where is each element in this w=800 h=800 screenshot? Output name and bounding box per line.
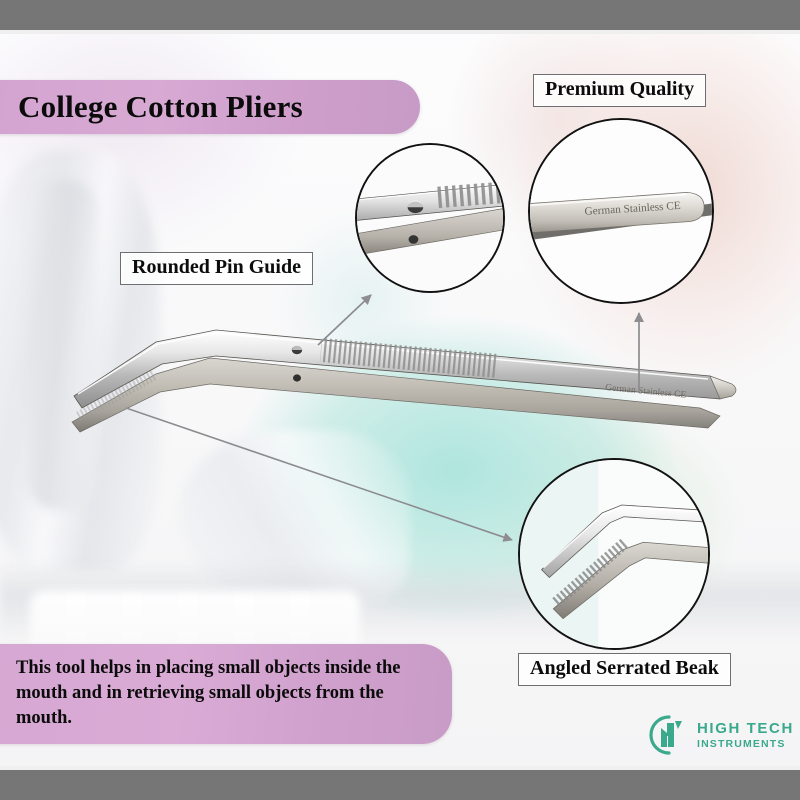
callout-beak-detail — [518, 458, 710, 650]
frame-hairline-top — [0, 30, 800, 34]
logo-wordmark: HIGH TECH INSTRUMENTS — [697, 721, 794, 750]
callout-beak-svg — [520, 460, 708, 648]
label-angled-serrated-beak: Angled Serrated Beak — [518, 653, 731, 686]
logo-mark-icon — [648, 714, 690, 756]
label-rounded-pin-guide-text: Rounded Pin Guide — [132, 256, 301, 279]
callout-engraving-svg: German Stainless CE — [530, 120, 712, 302]
description-banner: This tool helps in placing small objects… — [0, 644, 452, 744]
infographic-canvas: German Stainless CE — [0, 0, 800, 800]
background-glass-stem — [28, 180, 98, 510]
frame-band-bottom — [0, 770, 800, 800]
description-text: This tool helps in placing small objects… — [16, 656, 418, 730]
brand-logo: HIGH TECH INSTRUMENTS — [648, 714, 794, 756]
label-premium-quality-text: Premium Quality — [545, 78, 694, 101]
title-banner: College Cotton Pliers — [0, 80, 420, 134]
label-angled-serrated-beak-text: Angled Serrated Beak — [530, 657, 719, 680]
callout-pin-guide-detail — [355, 143, 505, 293]
callout-engraving-detail: German Stainless CE — [528, 118, 714, 304]
label-rounded-pin-guide: Rounded Pin Guide — [120, 252, 313, 285]
frame-band-top — [0, 0, 800, 30]
label-premium-quality: Premium Quality — [533, 74, 706, 107]
callout-pin-guide-svg — [357, 145, 503, 291]
logo-line-2: INSTRUMENTS — [697, 739, 794, 750]
page-title: College Cotton Pliers — [18, 89, 303, 125]
logo-line-1: HIGH TECH — [697, 721, 794, 736]
